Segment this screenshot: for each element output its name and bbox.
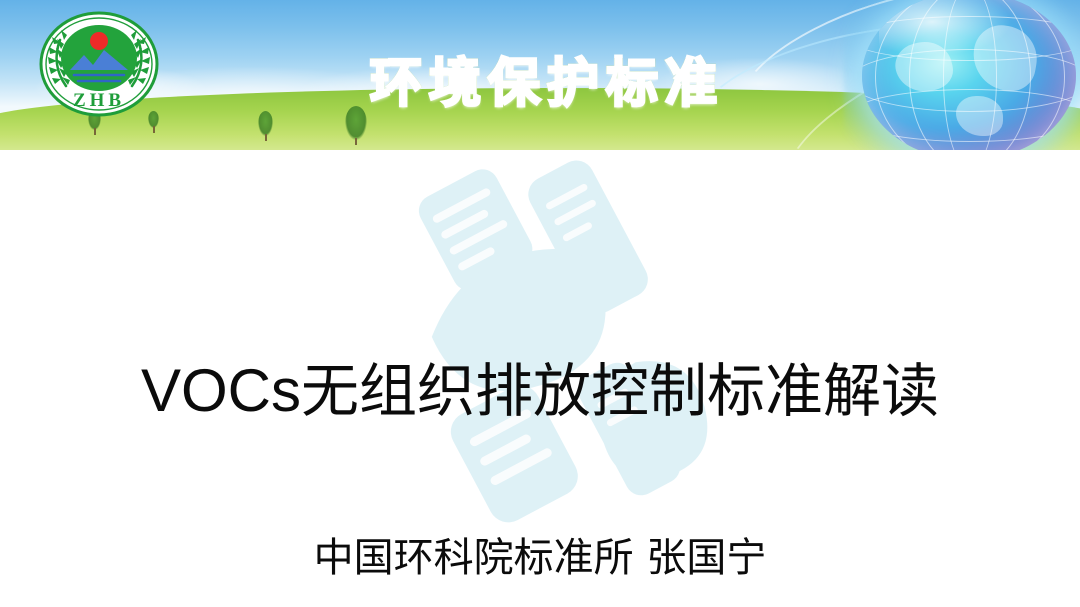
globe-parallel-line [862,16,1076,62]
slide-body: VOCs无组织排放控制标准解读 中国环科院标准所 张国宁 2019-7-5 [0,150,1080,607]
background-watermark [300,150,770,560]
svg-text:ZHB: ZHB [73,90,125,111]
page-title-latin: VOCs [141,357,301,424]
author-line: 中国环科院标准所 张国宁 [0,535,1080,581]
globe-landmass [891,36,957,98]
slide-banner: ZHB 环境保护标准 [0,0,1080,150]
banner-headline: 环境保护标准 [370,58,724,110]
presentation-slide: ZHB 环境保护标准 [0,0,1080,607]
globe-highlight [879,0,1012,56]
zhb-logo-icon: ZHB [38,10,160,118]
tree-icon [345,106,367,140]
page-title-cjk: 无组织排放控制标准解读 [301,357,939,425]
tree-icon [258,111,273,136]
page-title: VOCs无组织排放控制标准解读 [0,358,1080,424]
globe-landmass [968,21,1042,95]
